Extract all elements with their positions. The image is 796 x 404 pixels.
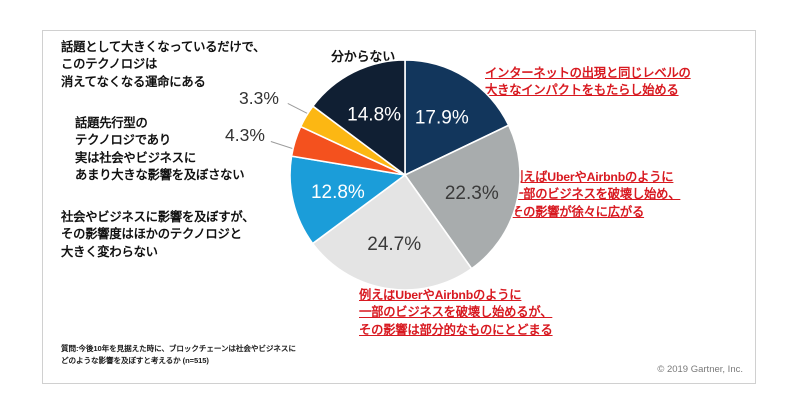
pie-slice-value: 17.9%	[415, 108, 469, 129]
annotation-minor-impact: 社会やビジネスに影響を及ぼすが、 その影響度はほかのテクノロジと 大きく変わらな…	[61, 209, 254, 261]
pie-slice-value: 22.3%	[445, 183, 499, 204]
pie-slices	[290, 60, 520, 290]
annotation-doomed: 話題として大きくなっているだけで、 このテクノロジは 消えてなくなる運命にある	[61, 39, 265, 91]
slice-value-3-3: 3.3%	[239, 88, 279, 109]
copyright-notice: © 2019 Gartner, Inc.	[657, 364, 743, 375]
pie-chart-svg: 17.9%22.3%24.7%12.8%14.8%	[289, 59, 521, 291]
annotation-partial-impact: 例えばUberやAirbnbのように 一部のビジネスを破壊し始めるが、 その影響…	[359, 287, 553, 339]
annotation-gradual-spread: 例えばUberやAirbnbのように 一部のビジネスを破壊し始め、 その影響が徐…	[511, 169, 680, 221]
pie-slice-value: 12.8%	[311, 182, 365, 203]
annotation-hype: 話題先行型の テクノロジであり 実は社会やビジネスに あまり大きな影響を及ぼさな…	[75, 115, 244, 185]
pie-chart: 17.9%22.3%24.7%12.8%14.8%	[289, 59, 521, 291]
pie-slice-value: 14.8%	[347, 104, 401, 125]
slice-value-4-3: 4.3%	[225, 125, 265, 146]
question-footnote: 質問:今後10年を見据えた時に、ブロックチェーンは社会やビジネスに どのような影…	[61, 343, 296, 367]
pie-slice-value: 24.7%	[367, 234, 421, 255]
chart-card: 話題として大きくなっているだけで、 このテクノロジは 消えてなくなる運命にある …	[42, 30, 756, 384]
